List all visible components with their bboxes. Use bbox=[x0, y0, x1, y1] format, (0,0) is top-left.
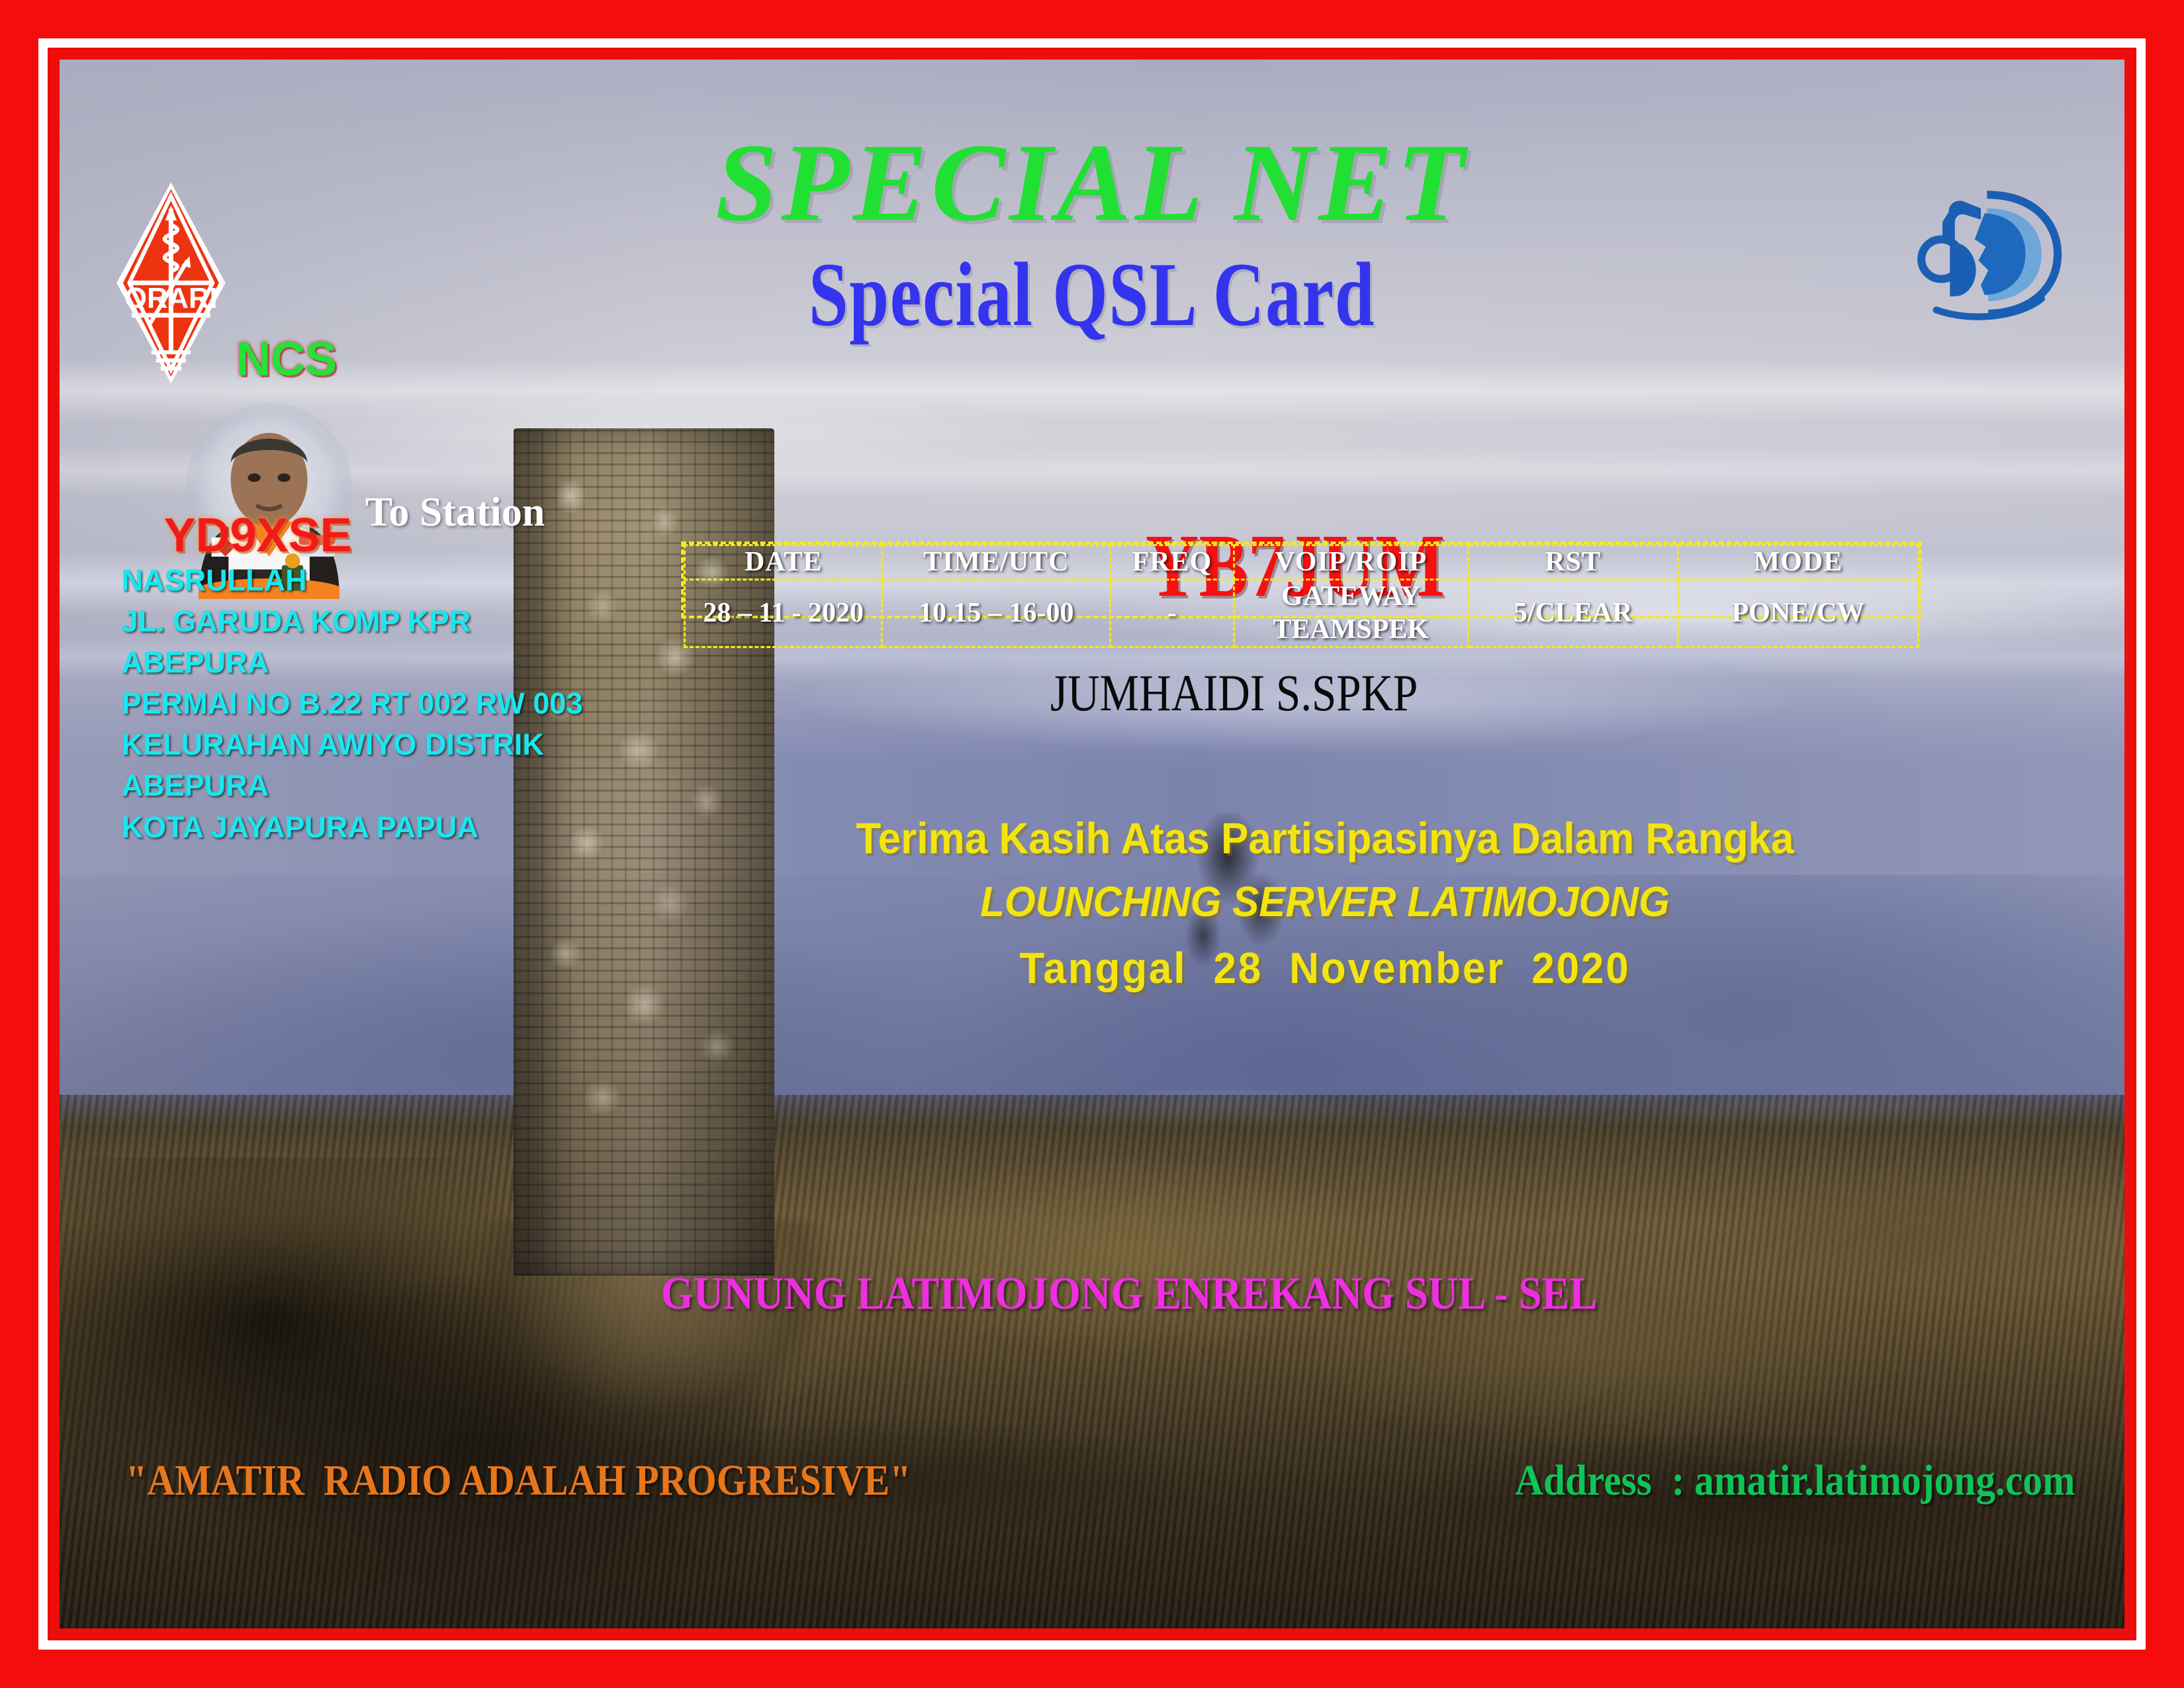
address-line: ABEPURA bbox=[122, 765, 659, 806]
address-line: KOTA JAYAPURA PAPUA bbox=[122, 807, 659, 848]
column-header-time-utc: TIME/UTC bbox=[882, 545, 1111, 580]
address-line: NASRULLAH bbox=[122, 560, 659, 601]
orari-logo-label: ORARI bbox=[124, 282, 218, 314]
card-frame-inner: ORARI SPECIAL NET Special QSL Card To St… bbox=[48, 48, 2136, 1640]
table-row: 28 – 11 - 2020 10.15 – 16-00 - GATEWAY T… bbox=[685, 580, 1919, 647]
cell-date: 28 – 11 - 2020 bbox=[685, 580, 882, 647]
cell-mode: PONE/CW bbox=[1678, 580, 1919, 647]
page-subtitle-special-qsl-card: Special QSL Card bbox=[287, 242, 1897, 347]
cell-time-utc: 10.15 – 16-00 bbox=[882, 580, 1111, 647]
page-title-special-net: SPECIAL NET bbox=[60, 119, 2124, 247]
table-header-row: DATE TIME/UTC FREQ VOIP/ROIP RST MODE bbox=[685, 545, 1919, 580]
event-line-2: LOUNCHING SERVER LATIMOJONG bbox=[355, 877, 2124, 926]
card-photo-background: ORARI SPECIAL NET Special QSL Card To St… bbox=[60, 60, 2124, 1628]
column-header-mode: MODE bbox=[1678, 545, 1919, 580]
cell-rst: 5/CLEAR bbox=[1468, 580, 1678, 647]
cell-freq: - bbox=[1111, 580, 1234, 647]
card-frame-gap: ORARI SPECIAL NET Special QSL Card To St… bbox=[38, 38, 2146, 1650]
address-line: KELURAHAN AWIYO DISTRIK bbox=[122, 724, 659, 765]
address-line: PERMAI NO B.22 RT 002 RW 003 bbox=[122, 683, 659, 724]
qsl-card: ORARI SPECIAL NET Special QSL Card To St… bbox=[0, 0, 2184, 1688]
ncs-callsign: YD9XSE bbox=[113, 508, 402, 563]
location-caption: GUNUNG LATIMOJONG ENREKANG SUL - SEL bbox=[200, 1268, 2058, 1321]
address-line: ABEPURA bbox=[122, 642, 659, 683]
ncs-role-label: NCS bbox=[173, 332, 400, 387]
cell-voip-roip: GATEWAY TEAMSPEK bbox=[1234, 580, 1468, 647]
column-header-rst: RST bbox=[1468, 545, 1678, 580]
qso-log-table: DATE TIME/UTC FREQ VOIP/ROIP RST MODE 28… bbox=[681, 541, 1922, 618]
footer-web-address: Address : amatir.latimojong.com bbox=[1515, 1456, 2075, 1506]
footer-motto: "AMATIR RADIO ADALAH PROGRESIVE" bbox=[126, 1456, 911, 1506]
address-line: JL. GARUDA KOMP KPR bbox=[122, 601, 659, 642]
ncs-address-block: NASRULLAH JL. GARUDA KOMP KPR ABEPURA PE… bbox=[122, 560, 659, 848]
column-header-voip-roip: VOIP/ROIP bbox=[1234, 545, 1468, 580]
column-header-date: DATE bbox=[685, 545, 882, 580]
column-header-freq: FREQ bbox=[1111, 545, 1234, 580]
event-line-3: Tanggal 28 November 2020 bbox=[355, 943, 2124, 993]
